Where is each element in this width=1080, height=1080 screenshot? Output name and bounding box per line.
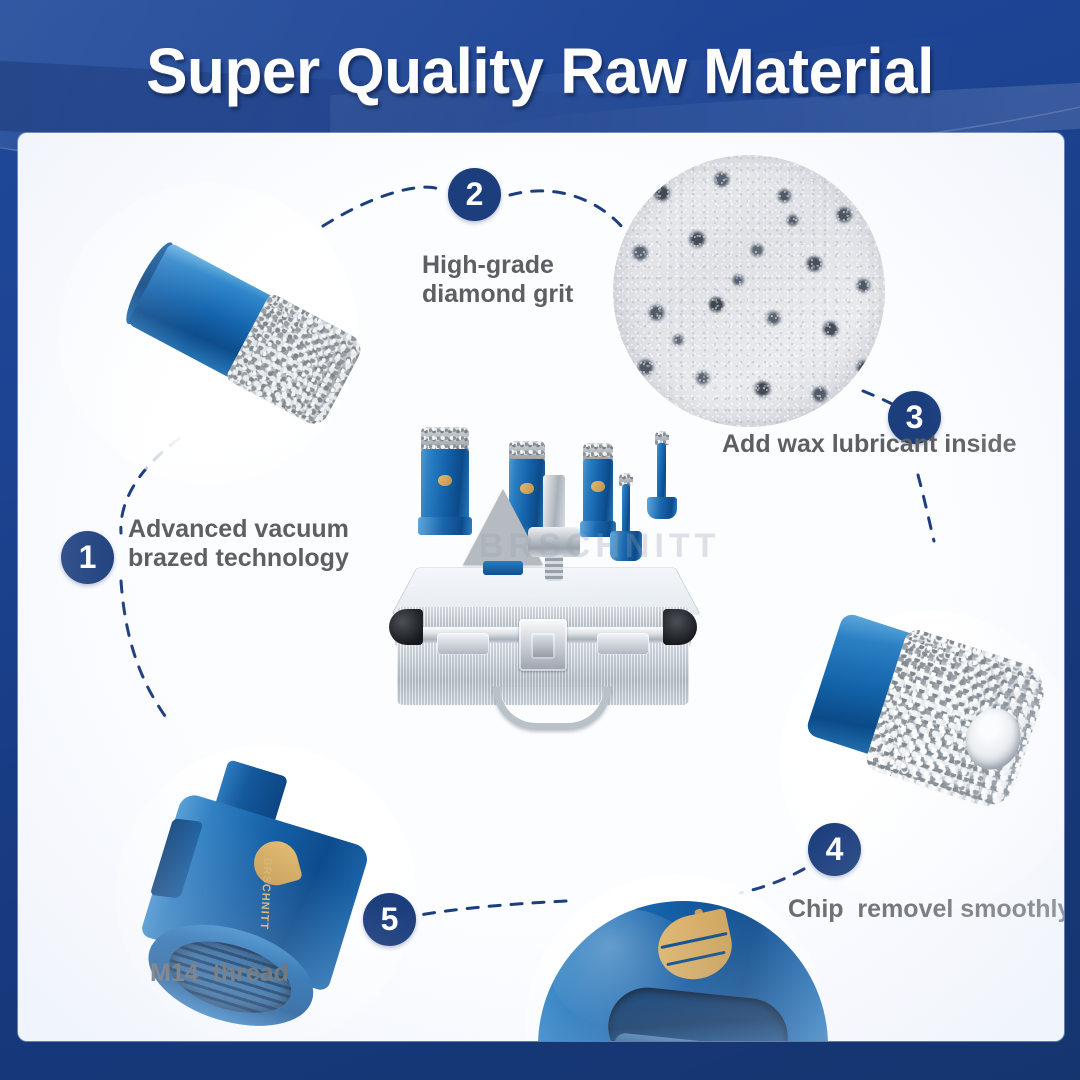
case-corner-left <box>389 609 423 645</box>
page-title: Super Quality Raw Material <box>16 34 1064 108</box>
brand-leaf-icon <box>650 909 750 983</box>
callout-badge-5-number: 5 <box>381 903 399 935</box>
case-watermark: BRSCHNITT <box>479 527 720 566</box>
chip-slot-bit-icon <box>538 901 828 1041</box>
callout-label-5: M14 thread <box>150 959 289 988</box>
callout-badge-1[interactable]: 1 <box>61 531 114 584</box>
case-bit-large <box>421 427 469 547</box>
infographic-root: Super Quality Raw Material <box>0 0 1080 1080</box>
callout-label-1: Advanced vacuum brazed technology <box>128 515 349 574</box>
case-latch[interactable] <box>519 619 567 671</box>
aluminium-case <box>395 607 691 719</box>
connector-3-bottom <box>918 475 934 541</box>
case-hinge-left <box>437 633 489 655</box>
connector-2-left <box>323 187 443 226</box>
callout-badge-2-number: 2 <box>466 178 484 210</box>
case-hinge-right <box>597 633 649 655</box>
content-panel: BRSCHNITT <box>18 133 1064 1041</box>
connector-1-bottom <box>121 581 170 723</box>
photo-advanced-brazed-bit <box>58 183 358 483</box>
drill-bit-icon <box>127 242 363 426</box>
photo-diamond-grit-macro <box>613 155 885 427</box>
callout-label-2: High-grade diamond grit <box>422 251 573 310</box>
connector-4-bottom <box>740 869 804 893</box>
callout-badge-3-number: 3 <box>906 401 924 433</box>
callout-badge-4-number: 4 <box>826 833 844 865</box>
case-corner-right <box>663 609 697 645</box>
callout-label-3: Add wax lubricant inside <box>722 430 1017 459</box>
callout-badge-4[interactable]: 4 <box>808 823 861 876</box>
callout-badge-5[interactable]: 5 <box>363 893 416 946</box>
callout-badge-2[interactable]: 2 <box>448 168 501 221</box>
connector-2-right <box>510 191 630 237</box>
callout-badge-1-number: 1 <box>79 541 97 573</box>
photo-product-case: BRSCHNITT <box>387 427 699 719</box>
callout-label-4: Chip removel smoothly <box>788 895 1064 924</box>
